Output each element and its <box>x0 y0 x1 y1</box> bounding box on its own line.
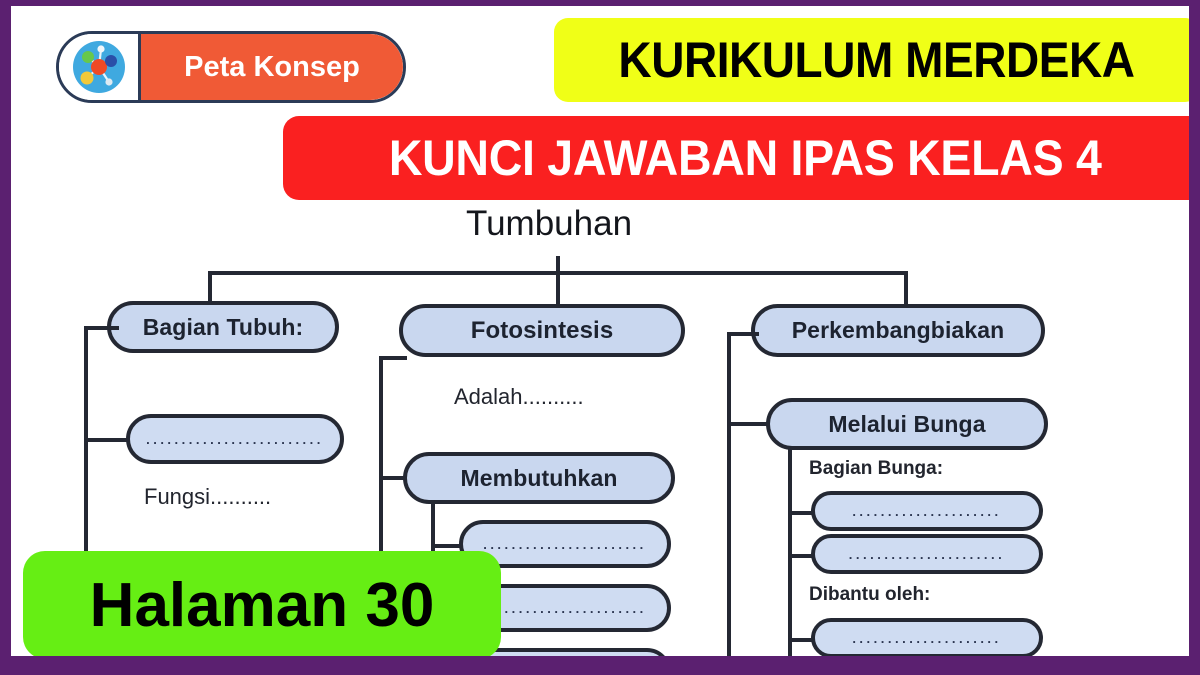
caption-bagian-bunga: Bagian Bunga: <box>809 458 943 480</box>
connector-b1-to-blank1 <box>84 438 132 442</box>
connector-b3-spine <box>727 332 731 656</box>
node-b3-blank-3[interactable]: ..................... <box>811 618 1043 656</box>
poster-canvas: Tumbuhan Bagian Tubuh: .................… <box>11 6 1189 656</box>
peta-konsep-label: Peta Konsep <box>184 51 360 84</box>
connector-b3-to-bunga <box>727 422 771 426</box>
node-membutuhkan[interactable]: Membutuhkan <box>403 452 675 504</box>
node-fotosintesis[interactable]: Fotosintesis <box>399 304 685 357</box>
node-b3-blank-2[interactable]: ...................... <box>811 534 1043 574</box>
peta-konsep-badge[interactable]: Peta Konsep <box>56 31 406 103</box>
dotted-placeholder: ....................... <box>483 602 647 615</box>
connector-b3-to-title <box>727 332 759 336</box>
kunci-jawaban-banner: KUNCI JAWABAN IPAS KELAS 4 <box>283 116 1189 200</box>
connector-b2-to-fotosintesis <box>379 356 407 360</box>
kurikulum-merdeka-banner: KURIKULUM MERDEKA <box>554 18 1189 102</box>
node-perkembangbiakan[interactable]: Perkembangbiakan <box>751 304 1045 357</box>
halaman-banner: Halaman 30 <box>23 551 501 656</box>
dotted-placeholder: ....................... <box>483 538 647 551</box>
kunci-jawaban-text: KUNCI JAWABAN IPAS KELAS 4 <box>389 129 1102 187</box>
connector-b3-sub-spine <box>788 446 792 656</box>
kurikulum-merdeka-text: KURIKULUM MERDEKA <box>618 31 1134 89</box>
node-b3-blank-1[interactable]: ..................... <box>811 491 1043 531</box>
caption-fungsi: Fungsi.......... <box>144 484 271 510</box>
diagram-root-title: Tumbuhan <box>466 204 632 244</box>
dotted-placeholder: ......................... <box>146 433 324 446</box>
molecule-network-icon <box>59 34 141 100</box>
dotted-placeholder: ..................... <box>852 632 1001 645</box>
connector-b1-to-title <box>84 326 119 330</box>
connector-root-bus <box>208 271 908 275</box>
dotted-placeholder: ..................... <box>852 505 1001 518</box>
dotted-placeholder: ...................... <box>849 548 1005 561</box>
node-b1-blank-1[interactable]: ......................... <box>126 414 344 464</box>
node-bagian-tubuh[interactable]: Bagian Tubuh: <box>107 301 339 353</box>
peta-konsep-label-area: Peta Konsep <box>141 34 403 100</box>
poster-frame: Tumbuhan Bagian Tubuh: .................… <box>0 0 1200 675</box>
caption-dibantu-oleh: Dibantu oleh: <box>809 584 930 606</box>
halaman-text: Halaman 30 <box>90 570 435 641</box>
node-melalui-bunga[interactable]: Melalui Bunga <box>766 398 1048 450</box>
caption-adalah: Adalah.......... <box>454 384 584 410</box>
